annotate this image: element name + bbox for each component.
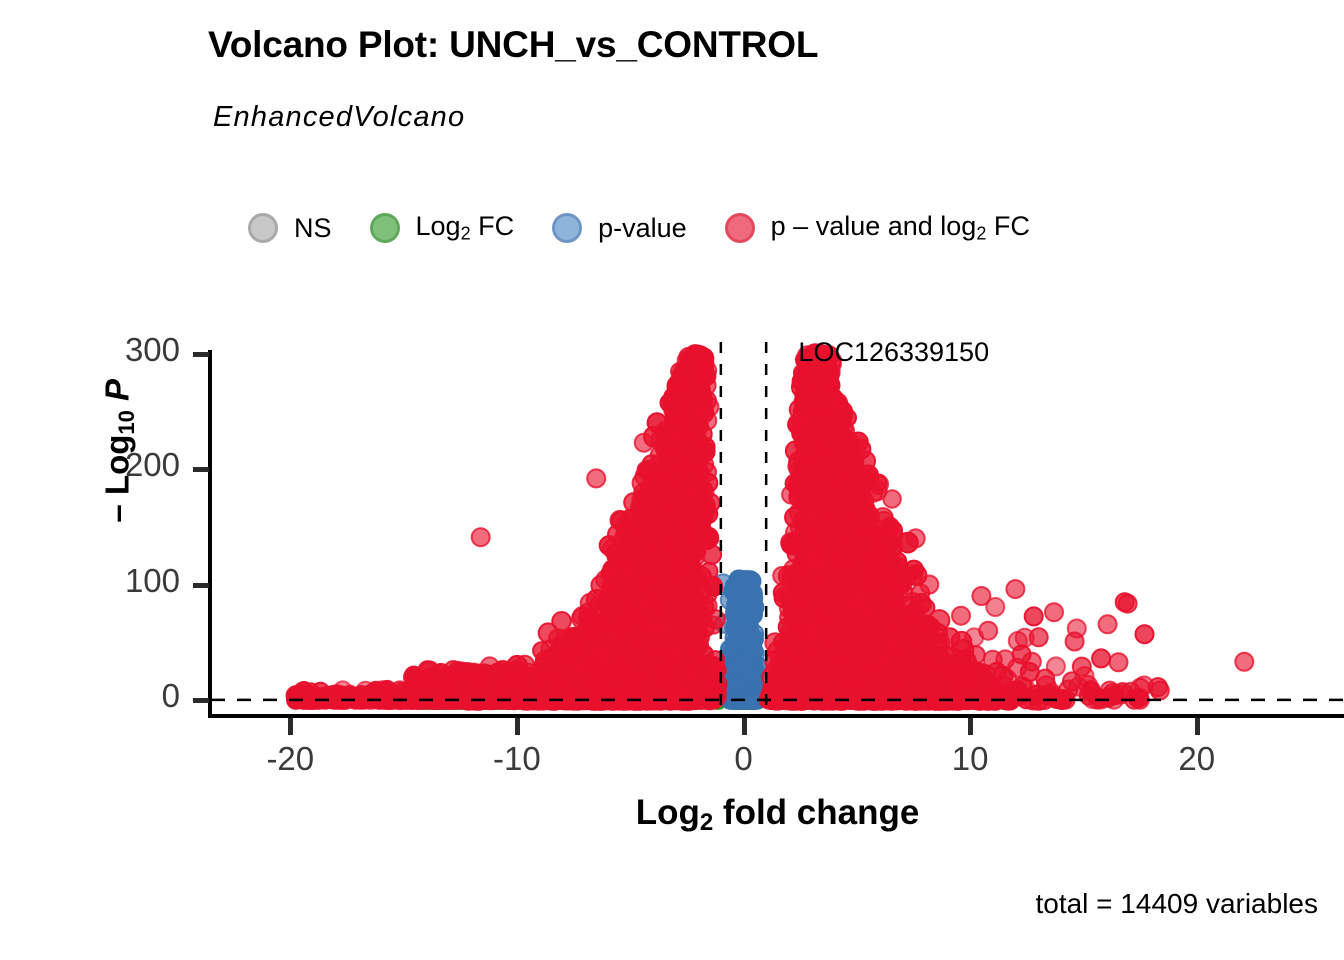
plot-subtitle: EnhancedVolcano [213,101,465,134]
y-axis-tick [193,467,209,472]
x-axis-label: Log2 fold change [211,793,1344,837]
x-axis-tick [968,718,973,735]
chart-legend: NSLog2 FCp-valuep – value and log2 FC [248,200,1068,256]
legend-item-p-value-and-log2-fc[interactable]: p – value and log2 FC [725,211,1068,245]
y-axis-tick [193,583,209,588]
x-axis-tick-label: 10 [952,740,989,778]
legend-item-log2-fc[interactable]: Log2 FC [370,211,553,245]
total-variables-caption: total = 14409 variables [1035,888,1318,920]
x-axis-tick-label: -20 [266,740,314,778]
x-axis-tick [515,718,520,735]
legend-item-label: p – value and log2 FC [771,211,1030,245]
legend-item-p-value[interactable]: p-value [552,213,725,244]
x-axis-tick-label: 0 [734,740,752,778]
x-axis-tick [288,718,293,735]
legend-item-ns[interactable]: NS [248,213,370,244]
y-axis-tick [193,352,209,357]
legend-item-label: Log2 FC [416,211,515,245]
y-axis-label: – Log10 P [98,301,140,601]
legend-marker-icon [370,213,400,243]
volcano-plot-figure: Volcano Plot: UNCH_vs_CONTROL EnhancedVo… [0,0,1344,960]
x-axis-tick [1195,718,1200,735]
x-axis-tick-label: 20 [1178,740,1215,778]
legend-item-label: NS [294,213,332,244]
page-title: Volcano Plot: UNCH_vs_CONTROL [208,24,818,66]
legend-marker-icon [725,213,755,243]
legend-marker-icon [552,213,582,243]
gene-label: LOC126339150 [798,337,989,368]
point-group-red [287,344,1254,710]
legend-marker-icon [248,213,278,243]
scatter-points-layer [211,340,1344,716]
legend-item-label: p-value [598,213,687,244]
x-axis-tick-label: -10 [493,740,541,778]
y-axis-tick-label: 0 [162,677,180,715]
x-axis-tick [742,718,747,735]
plot-panel [211,340,1344,716]
y-axis-tick [193,698,209,703]
